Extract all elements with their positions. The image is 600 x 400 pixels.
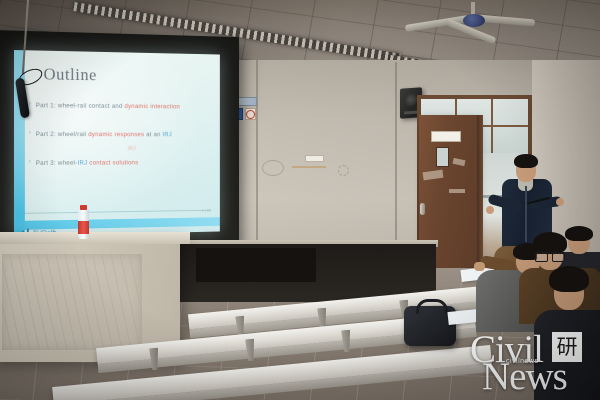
bullet-1-accent: dynamic interaction bbox=[124, 103, 180, 110]
projection-screen[interactable]: Outline Part 1: wheel-rail contact and d… bbox=[14, 50, 220, 236]
bullet-3-tail: contact solutions bbox=[87, 160, 138, 167]
bottle-cap bbox=[80, 205, 87, 210]
slide-title: Outline bbox=[44, 65, 97, 86]
bullet-2-accent: dynamic responses bbox=[88, 131, 144, 138]
door-viewport-window bbox=[436, 147, 449, 167]
slide-page-number: 1 / 25 bbox=[202, 208, 211, 213]
door-handle[interactable] bbox=[420, 203, 425, 215]
lecture-hall-photo: Outline Part 1: wheel-rail contact and d… bbox=[0, 0, 600, 400]
wall-marker-line bbox=[292, 166, 326, 168]
wall-notice-label bbox=[305, 155, 324, 162]
bullet-3-lead: Part 3: wheel- bbox=[36, 160, 78, 167]
bullet-2-tail: at an bbox=[144, 131, 162, 138]
stage-recess bbox=[196, 248, 316, 282]
podium-front-panel bbox=[2, 254, 142, 350]
no-smoking-sign-icon bbox=[245, 108, 256, 120]
wall-mark bbox=[262, 160, 284, 176]
bullet-1-lead: Part 1: wheel-rail contact and bbox=[36, 102, 125, 110]
door-notice-paper bbox=[431, 131, 461, 142]
glasses-icon bbox=[535, 252, 565, 260]
ceiling-fan bbox=[415, 2, 535, 50]
bullet-2-accent2: IRJ bbox=[162, 131, 172, 138]
seated-attendee-foreground bbox=[540, 262, 600, 400]
bullet-3-accent: IRJ bbox=[77, 160, 87, 167]
podium-vent-texture bbox=[2, 254, 142, 350]
bullet-2-lead: Part 2: wheel/rail bbox=[36, 131, 89, 138]
water-bottle[interactable] bbox=[78, 205, 89, 239]
slide-bullet-list: Part 1: wheel-rail contact and dynamic i… bbox=[36, 102, 213, 189]
wall-mark bbox=[338, 165, 349, 176]
slide-bullet-1: Part 1: wheel-rail contact and dynamic i… bbox=[36, 102, 213, 110]
podium-surface bbox=[0, 232, 190, 244]
slide-bullet-2: Part 2: wheel/rail dynamic responses at … bbox=[36, 131, 213, 138]
slide-bullet-3: Part 3: wheel-IRJ contact solutions bbox=[36, 159, 213, 167]
slide-faded-text: IRJ bbox=[128, 146, 136, 152]
door-edge bbox=[477, 115, 483, 273]
